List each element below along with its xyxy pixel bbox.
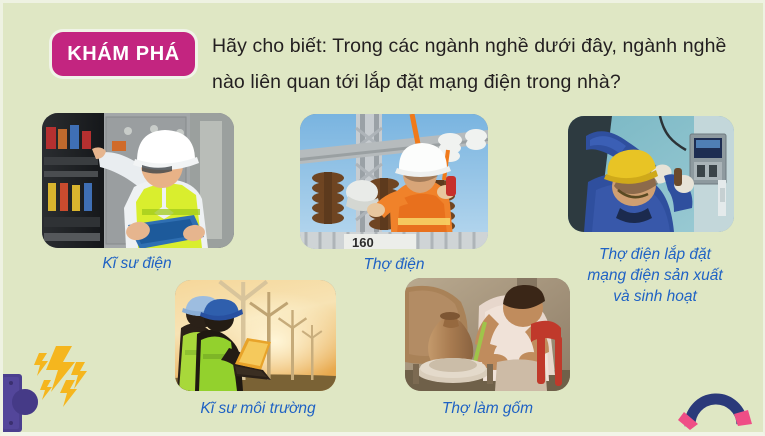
electrical-switch-decoration <box>0 336 105 436</box>
switch-with-sparks-icon <box>0 336 105 436</box>
question-text: Hãy cho biết: Trong các ngành nghề dưới … <box>212 28 748 100</box>
horseshoe-magnet-decoration <box>676 368 756 430</box>
lineman-illustration: 160 <box>300 114 488 249</box>
caption-ki-su-dien: Kĩ sư điện <box>32 253 242 274</box>
svg-text:160: 160 <box>352 235 374 249</box>
kham-pha-badge[interactable]: KHÁM PHÁ <box>52 32 195 76</box>
wind-farm-engineers-illustration <box>175 280 336 391</box>
photo-tho-dien[interactable]: 160 <box>300 114 488 249</box>
photo-tho-lam-gom[interactable] <box>405 278 570 391</box>
photo-tho-dien-lap-dat[interactable] <box>568 116 734 232</box>
caption-tho-dien: Thợ điện <box>294 254 494 275</box>
photo-ki-su-moi-truong[interactable] <box>175 280 336 391</box>
photo-ki-su-dien[interactable] <box>42 113 234 248</box>
electrical-engineer-illustration <box>42 113 234 248</box>
kham-pha-badge-label: KHÁM PHÁ <box>67 43 180 66</box>
slide-canvas: KHÁM PHÁ Hãy cho biết: Trong các ngành n… <box>0 0 765 436</box>
caption-tho-dien-lap-dat: Thợ điện lắp đặt mạng điện sản xuất và s… <box>560 244 750 307</box>
caption-tho-lam-gom: Thợ làm gốm <box>400 398 575 419</box>
horseshoe-magnet-icon <box>676 368 756 430</box>
potter-illustration <box>405 278 570 391</box>
electrician-meterbox-illustration <box>568 116 734 232</box>
caption-ki-su-moi-truong: Kĩ sư môi trường <box>168 398 348 419</box>
